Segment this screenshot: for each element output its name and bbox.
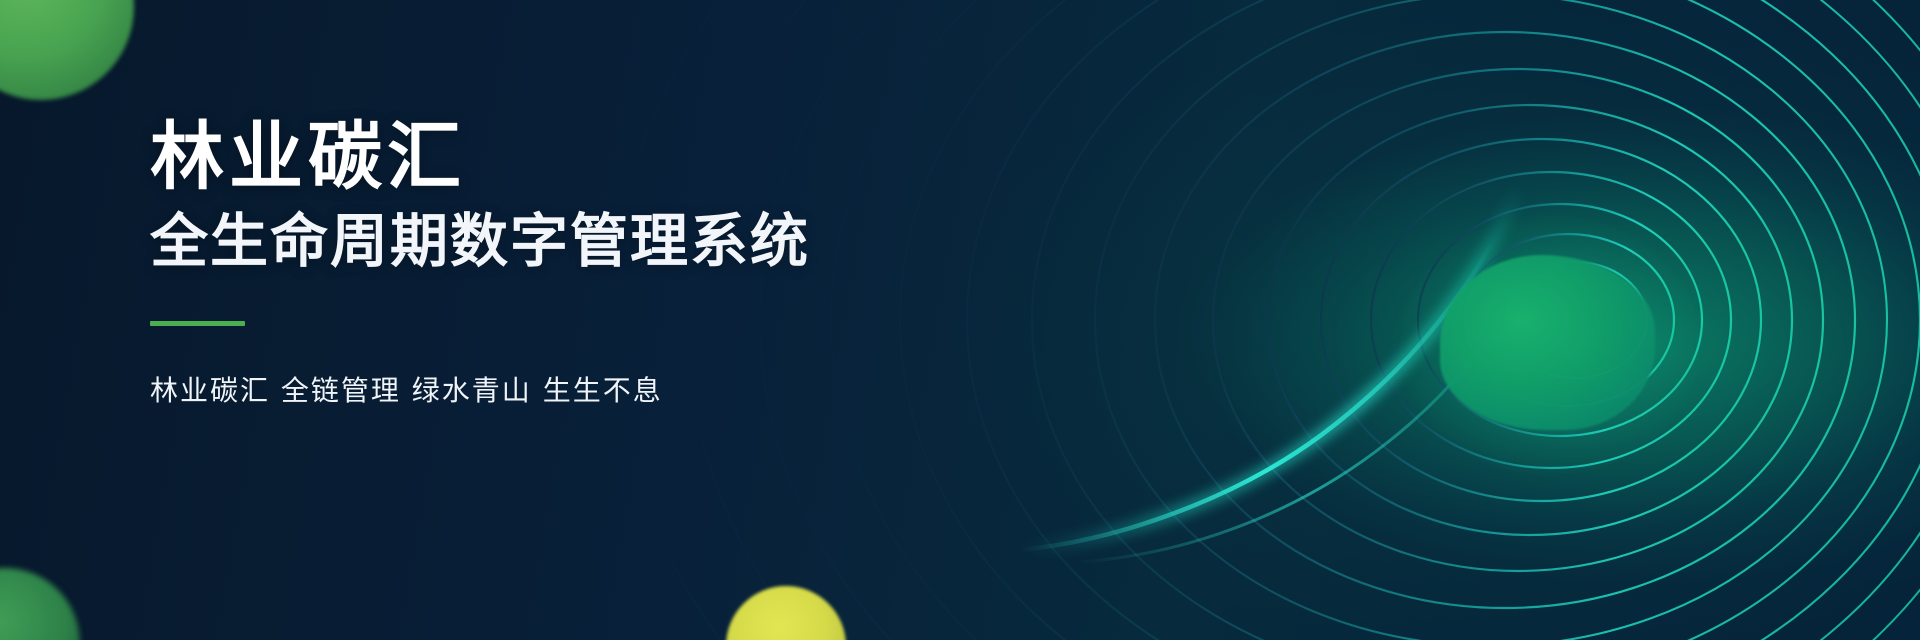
page-subtitle: 全生命周期数字管理系统 [150,210,1010,274]
hero-text-block: 林业碳汇 全生命周期数字管理系统 林业碳汇 全链管理 绿水青山 生生不息 [150,118,1010,409]
hero-banner: 林业碳汇 全生命周期数字管理系统 林业碳汇 全链管理 绿水青山 生生不息 [0,0,1920,640]
page-tagline: 林业碳汇 全链管理 绿水青山 生生不息 [150,369,1010,409]
accent-divider [150,321,245,326]
green-nucleus-blob-icon [1440,255,1655,430]
page-title: 林业碳汇 [150,118,1010,196]
